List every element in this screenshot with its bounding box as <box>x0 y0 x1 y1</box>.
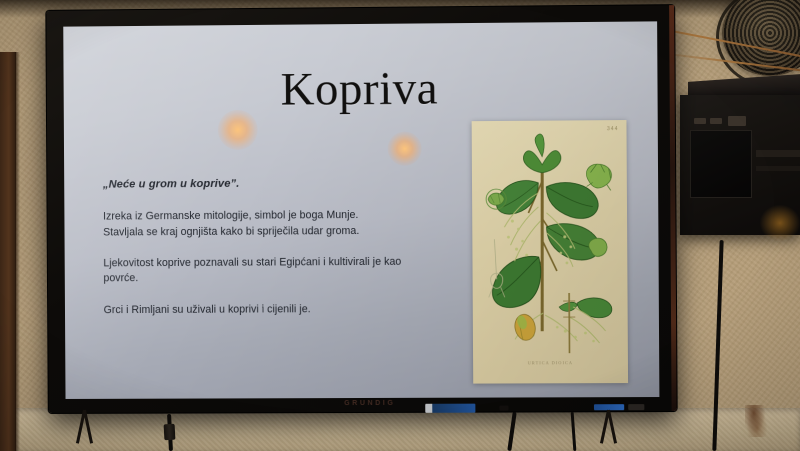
slide-paragraph-1-line-2: Stavljala se kraj ognjišta kako bi sprij… <box>103 223 432 240</box>
television: Kopriva „Neće u grom u koprive”. Izreka … <box>46 5 676 413</box>
slide-paragraph-2-line-1: Ljekovitost koprive poznavali su stari E… <box>103 255 432 288</box>
botanical-illustration: 344 URTICA DIOICA <box>472 120 628 384</box>
plate-number: 344 <box>607 126 618 132</box>
cable-plug <box>164 424 176 441</box>
slide-title: Kopriva <box>63 60 657 119</box>
slide-paragraph-1: Izreka iz Germanske mitologije, simbol j… <box>103 208 432 241</box>
photo-scene: Kopriva „Neće u grom u koprive”. Izreka … <box>0 0 800 451</box>
stereo-cassette-slot[interactable] <box>756 150 800 157</box>
stereo-button[interactable] <box>694 118 706 124</box>
tv-screen: Kopriva „Neće u grom u koprive”. Izreka … <box>63 21 659 399</box>
slide-quote: „Neće u grom u koprive”. <box>103 176 432 193</box>
wall-stain <box>745 405 767 437</box>
stereo-amber-glow <box>760 205 800 241</box>
ir-receiver-window <box>499 406 508 411</box>
doorframe-shadow <box>15 52 20 451</box>
slide-paragraph-3: Grci i Rimljani su uživali u koprivi i c… <box>104 302 433 319</box>
dark-sticker <box>628 404 644 410</box>
slide-paragraph-2: Ljekovitost koprive poznavali su stari E… <box>103 255 432 288</box>
lens-flare-right <box>388 132 422 166</box>
slide-body-text: „Neće u grom u koprive”. Izreka iz Germa… <box>103 176 433 335</box>
stereo-vent <box>756 166 800 171</box>
stereo-display-panel <box>690 130 752 198</box>
energy-label-sticker <box>425 404 475 413</box>
slide-paragraph-3-line-1: Grci i Rimljani su uživali u koprivi i c… <box>104 302 433 319</box>
tv-brand-logo: GRUNDIG <box>344 400 395 407</box>
nettle-plant-icon <box>472 120 628 384</box>
stereo-button[interactable] <box>710 118 722 124</box>
doorframe <box>0 52 16 451</box>
plate-caption: URTICA DIOICA <box>473 360 628 366</box>
stereo-knob[interactable] <box>728 116 746 126</box>
wall-lower-texture <box>0 408 800 451</box>
